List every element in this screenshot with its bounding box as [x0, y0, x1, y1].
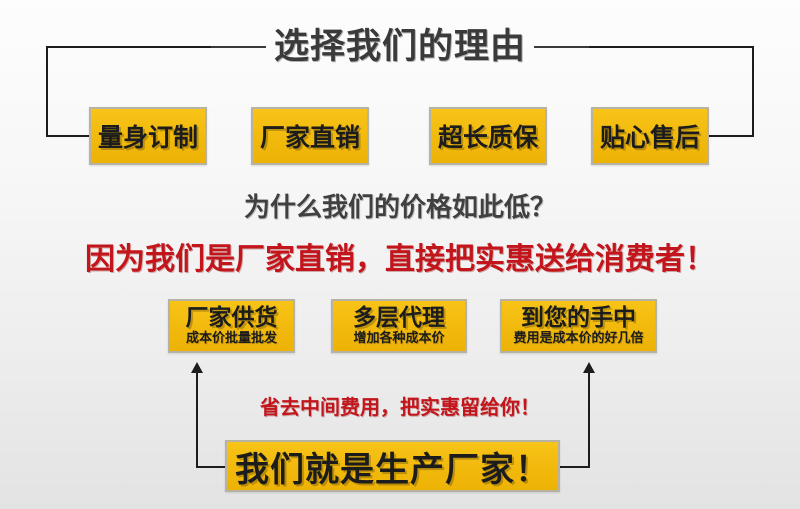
bracket-left-vertical: [46, 46, 48, 137]
chain-subtitle: 成本价批量批发: [186, 331, 277, 347]
arrow-up-left-base: [196, 466, 226, 468]
reason-label: 超长质保: [438, 118, 538, 154]
title-rule-right: [534, 46, 589, 48]
reason-box-factory-direct: 厂家直销: [251, 107, 369, 165]
reason-label: 厂家直销: [260, 118, 360, 154]
chain-box-to-your-hands: 到您的手中 费用是成本价的好几倍: [500, 299, 657, 353]
subline-text: 省去中间费用，把实惠留给你！: [0, 391, 800, 420]
title-rule-left: [211, 46, 266, 48]
arrow-up-icon: [583, 362, 595, 373]
chain-subtitle: 费用是成本价的好几倍: [513, 331, 643, 347]
bottom-banner: 我们就是生产厂家！: [225, 440, 560, 492]
page-title: 选择我们的理由: [266, 24, 534, 70]
chain-label: 多层代理: [353, 305, 445, 331]
headline-text: 因为我们是厂家直销，直接把实惠送给消费者！: [0, 234, 800, 278]
question-text: 为什么我们的价格如此低？: [0, 187, 800, 224]
reason-label: 贴心售后: [600, 118, 700, 154]
chain-box-multi-agent: 多层代理 增加各种成本价: [331, 299, 467, 353]
chain-subtitle: 增加各种成本价: [353, 331, 444, 347]
banner-label: 我们就是生产厂家！: [235, 442, 550, 491]
bracket-right-top: [589, 46, 754, 48]
bracket-left-bottom: [46, 135, 89, 137]
bracket-right-bottom: [709, 135, 754, 137]
chain-label: 到您的手中: [521, 305, 636, 331]
bracket-right-vertical: [752, 46, 754, 137]
promo-poster: 选择我们的理由 量身订制 厂家直销 超长质保 贴心售后 为什么我们的价格如此低？…: [0, 0, 800, 509]
reason-box-long-warranty: 超长质保: [429, 107, 547, 165]
reason-box-custom-made: 量身订制: [89, 107, 207, 165]
reason-label: 量身订制: [98, 118, 198, 154]
bracket-left-top: [46, 46, 211, 48]
chain-box-factory-supply: 厂家供货 成本价批量批发: [168, 299, 295, 353]
reason-box-after-sales: 贴心售后: [591, 107, 709, 165]
arrow-up-right-base: [559, 466, 590, 468]
arrow-up-icon: [191, 362, 203, 373]
chain-label: 厂家供货: [186, 305, 278, 331]
